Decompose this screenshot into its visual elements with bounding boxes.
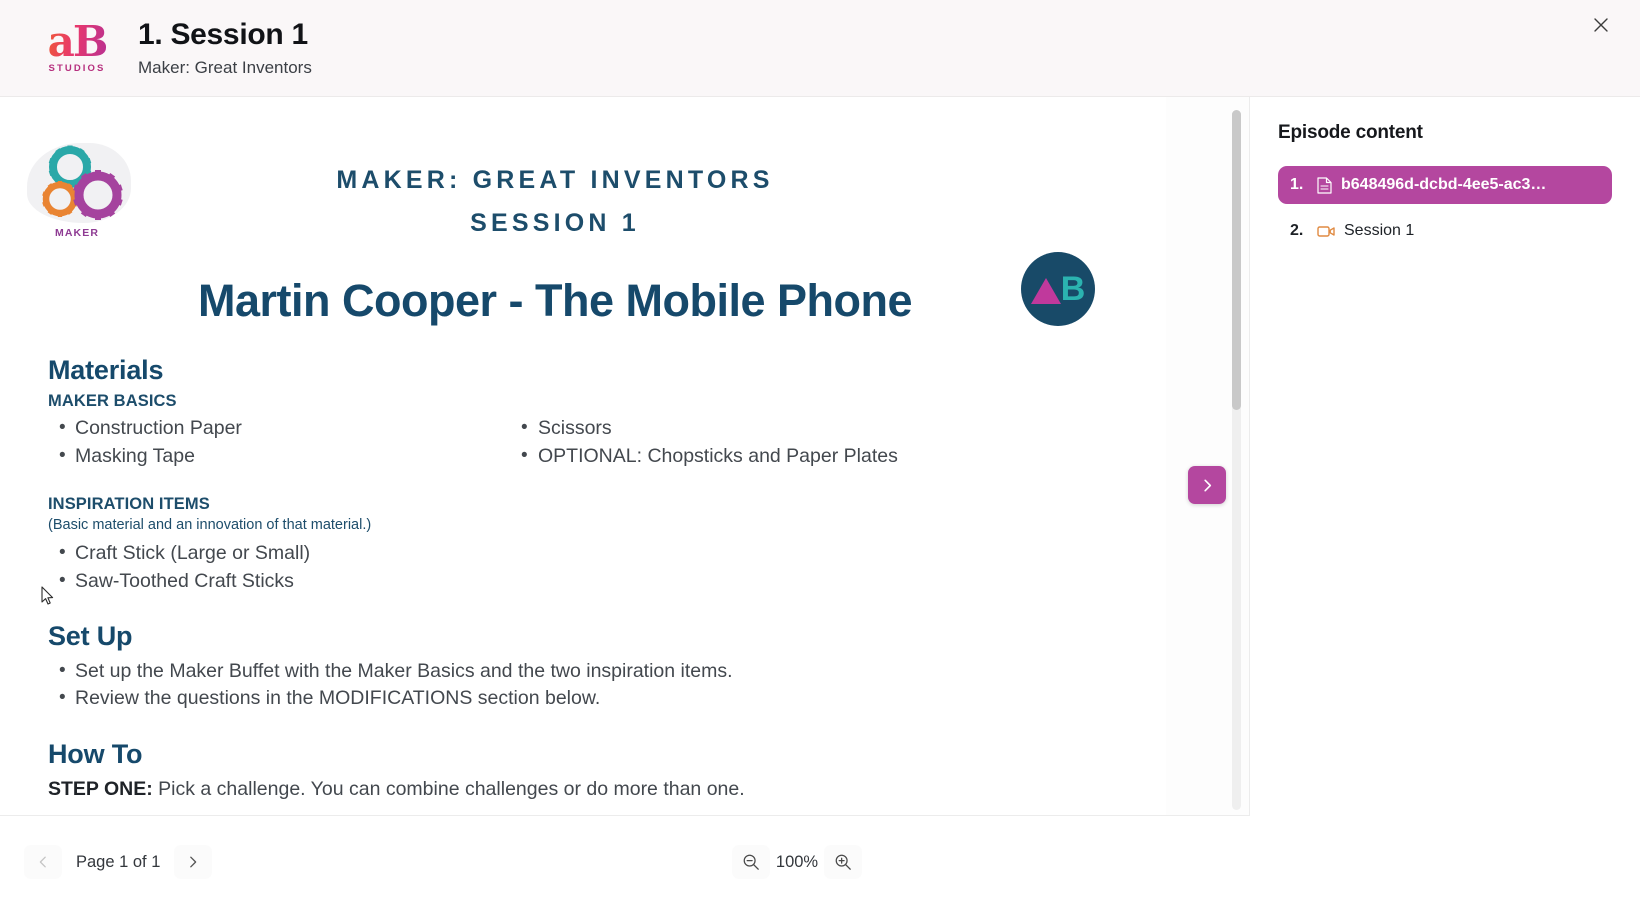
app-header: aB STUDIOS 1. Session 1 Maker: Great Inv… (0, 0, 1640, 97)
kicker-line-1: MAKER: GREAT INVENTORS (0, 159, 1110, 202)
ab-studios-logo: aB STUDIOS (38, 13, 116, 83)
step-one-label: STEP ONE: (48, 778, 153, 800)
sidebar-item-document[interactable]: 1. b648496d-dcbd-4ee5-ac3… (1278, 166, 1612, 204)
ab-studios-wordmark: aB (48, 22, 107, 62)
zoom-out-button[interactable] (732, 845, 770, 879)
sidebar-item-label: Session 1 (1344, 222, 1414, 240)
chevron-right-icon (186, 855, 200, 869)
document-scrollbar-thumb[interactable] (1232, 110, 1241, 410)
list-item: Masking Tape (48, 443, 518, 471)
sidebar-item-index: 2. (1290, 222, 1308, 240)
page-title: 1. Session 1 (138, 18, 312, 53)
video-icon (1317, 224, 1335, 238)
document-viewer[interactable]: MAKER B MAKER: GREAT INVENTORS SESSION 1… (0, 97, 1166, 815)
zoom-in-button[interactable] (824, 845, 862, 879)
document-glyph (1317, 177, 1332, 194)
zoom-out-icon (742, 853, 760, 871)
viewer-bottom-toolbar: Page 1 of 1 100% (0, 815, 1250, 908)
maker-basics-left-column: Construction Paper Masking Tape (48, 411, 518, 471)
previous-page-button[interactable] (24, 845, 62, 879)
zoom-controls: 100% (732, 845, 862, 879)
video-camera-glyph (1317, 224, 1335, 238)
list-item: Set up the Maker Buffet with the Maker B… (48, 658, 1128, 686)
document-kicker: MAKER: GREAT INVENTORS SESSION 1 (0, 159, 1110, 245)
step-one-text: Pick a challenge. You can combine challe… (153, 778, 745, 800)
setup-heading: Set Up (48, 621, 1128, 652)
maker-basics-right-column: Scissors OPTIONAL: Chopsticks and Paper … (518, 411, 1078, 471)
maker-basics-left-list: Construction Paper Masking Tape (48, 415, 518, 471)
list-item: Construction Paper (48, 415, 518, 443)
pagination-controls: Page 1 of 1 (24, 845, 212, 879)
kicker-line-2: SESSION 1 (0, 202, 1110, 245)
howto-heading: How To (48, 739, 1128, 770)
list-item: Saw-Toothed Craft Sticks (48, 568, 1128, 596)
inspiration-items-heading: INSPIRATION ITEMS (48, 495, 1128, 514)
sidebar-item-video[interactable]: 2. Session 1 (1278, 212, 1612, 250)
document-title: Martin Cooper - The Mobile Phone (0, 275, 1110, 327)
materials-heading: Materials (48, 355, 1128, 386)
maker-basics-columns: Construction Paper Masking Tape Scissors… (48, 411, 1128, 471)
document-body: Materials MAKER BASICS Construction Pape… (48, 355, 1128, 804)
page-indicator: Page 1 of 1 (76, 853, 160, 872)
sidebar-item-label: b648496d-dcbd-4ee5-ac3… (1341, 176, 1546, 194)
sidebar-item-index: 1. (1290, 176, 1308, 194)
list-item: Review the questions in the MODIFICATION… (48, 685, 1128, 713)
maker-basics-heading: MAKER BASICS (48, 392, 1128, 411)
inspiration-items-note: (Basic material and an innovation of tha… (48, 517, 1128, 533)
chevron-left-icon (36, 855, 50, 869)
document-page: MAKER B MAKER: GREAT INVENTORS SESSION 1… (0, 97, 1166, 815)
header-text-group: 1. Session 1 Maker: Great Inventors (138, 18, 312, 78)
maker-basics-right-list: Scissors OPTIONAL: Chopsticks and Paper … (518, 415, 1078, 471)
list-item: Scissors (518, 415, 1078, 443)
zoom-in-icon (834, 853, 852, 871)
document-icon (1317, 177, 1332, 194)
next-page-button[interactable] (174, 845, 212, 879)
close-icon[interactable] (1586, 10, 1616, 40)
app-root: aB STUDIOS 1. Session 1 Maker: Great Inv… (0, 0, 1640, 908)
page-subtitle: Maker: Great Inventors (138, 58, 312, 78)
inspiration-items-list: Craft Stick (Large or Small) Saw-Toothed… (48, 540, 1128, 596)
mouse-cursor (41, 586, 55, 606)
setup-list: Set up the Maker Buffet with the Maker B… (48, 658, 1128, 714)
close-glyph (1593, 17, 1609, 33)
list-item: OPTIONAL: Chopsticks and Paper Plates (518, 443, 1078, 471)
step-one-line: STEP ONE: Pick a challenge. You can comb… (48, 776, 1128, 804)
zoom-level-label: 100% (774, 853, 820, 872)
chevron-right-icon (1200, 478, 1215, 493)
list-item: Craft Stick (Large or Small) (48, 540, 1128, 568)
expand-panel-button[interactable] (1188, 466, 1226, 504)
ab-studios-subtext: STUDIOS (49, 63, 106, 74)
episode-content-sidebar: Episode content 1. b648496d-dcbd-4ee5-ac… (1250, 97, 1640, 908)
sidebar-title: Episode content (1278, 122, 1612, 144)
